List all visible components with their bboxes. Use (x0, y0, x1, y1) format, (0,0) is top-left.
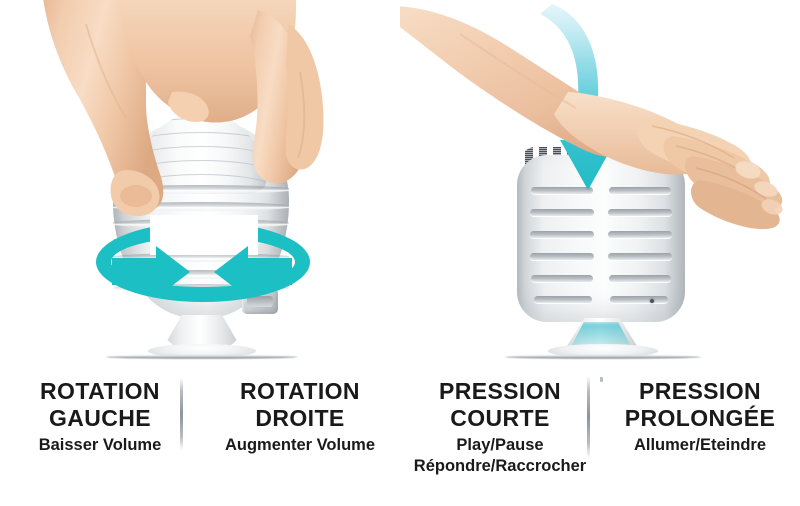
caption-subtitle-line-2: Répondre/Raccrocher (414, 456, 586, 477)
caption-title-line-2: COURTE (439, 405, 561, 432)
caption-title-line-2: DROITE (240, 405, 360, 432)
caption-title-line-1: PRESSION (439, 378, 561, 405)
caption-subtitle: Allumer/Eteindre (634, 435, 766, 456)
caption-rotation-gauche: ROTATION GAUCHE Baisser Volume (0, 368, 200, 506)
caption-subtitle-line-1: Allumer/Eteindre (634, 435, 766, 456)
caption-title-line-1: PRESSION (625, 378, 776, 405)
caption-title: ROTATION DROITE (240, 378, 360, 432)
caption-subtitle: Baisser Volume (39, 435, 162, 456)
caption-title: PRESSION PROLONGÉE (625, 378, 776, 432)
hand-rotating-illustration (0, 0, 400, 300)
caption-subtitle: Play/Pause Répondre/Raccrocher (414, 435, 586, 477)
caption-title-line-2: GAUCHE (40, 405, 160, 432)
hand-pressing-illustration (400, 0, 800, 260)
caption-title-line-1: ROTATION (40, 378, 160, 405)
caption-divider-tick (600, 377, 603, 382)
caption-title: ROTATION GAUCHE (40, 378, 160, 432)
caption-divider-pression (587, 376, 590, 458)
gesture-instructions-diagram: ROTATION GAUCHE Baisser Volume ROTATION … (0, 0, 800, 506)
caption-subtitle-line-1: Augmenter Volume (225, 435, 375, 456)
caption-title: PRESSION COURTE (439, 378, 561, 432)
caption-title-line-2: PROLONGÉE (625, 405, 776, 432)
panel-rotation-illustration (0, 0, 400, 368)
caption-row: ROTATION GAUCHE Baisser Volume ROTATION … (0, 368, 800, 506)
caption-pression-courte: PRESSION COURTE Play/Pause Répondre/Racc… (400, 368, 600, 506)
caption-subtitle-line-1: Play/Pause (414, 435, 586, 456)
caption-rotation-droite: ROTATION DROITE Augmenter Volume (200, 368, 400, 506)
caption-divider-rotation (180, 378, 183, 450)
caption-subtitle-line-1: Baisser Volume (39, 435, 162, 456)
caption-title-line-1: ROTATION (240, 378, 360, 405)
caption-pression-prolongee: PRESSION PROLONGÉE Allumer/Eteindre (600, 368, 800, 506)
caption-subtitle: Augmenter Volume (225, 435, 375, 456)
illustration-area (0, 0, 800, 368)
square-speaker-microphone-dot (650, 299, 654, 303)
round-speaker-table-edge (106, 355, 298, 359)
square-speaker-table-edge (505, 355, 701, 359)
